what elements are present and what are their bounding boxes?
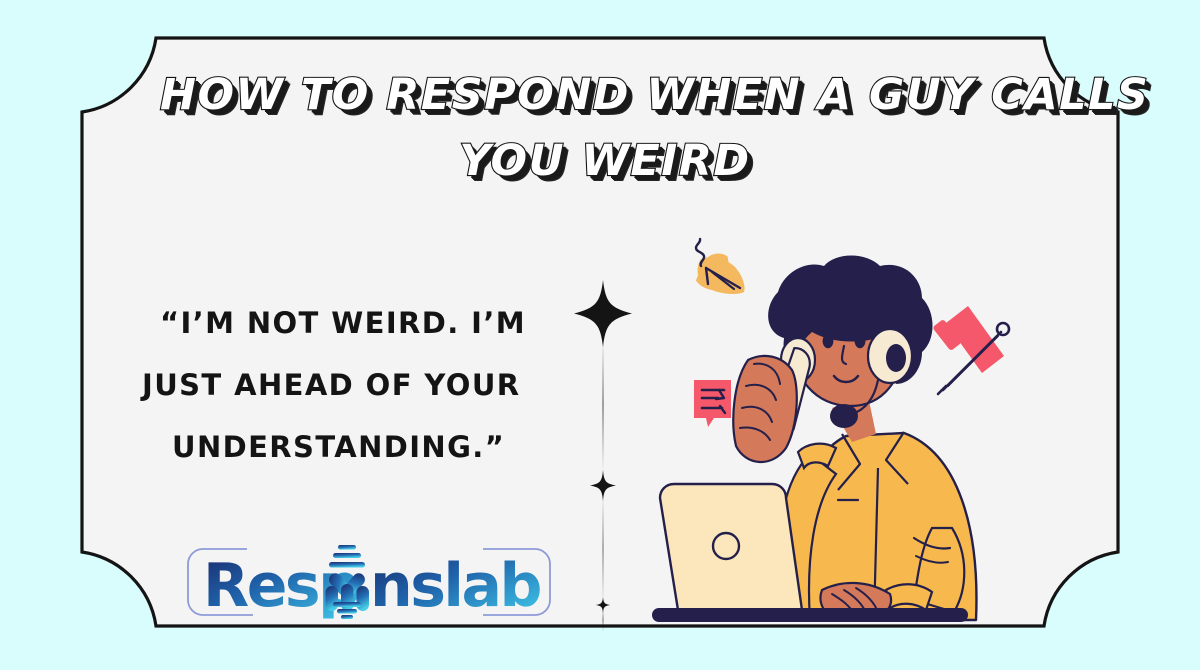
large-sparkle-icon: [574, 280, 632, 347]
quote-text: “I’M NOT WEIRD. I’M JUST AHEAD OF YOUR U…: [140, 292, 560, 478]
small-sparkle-icon: [596, 597, 610, 613]
right-eye: [855, 334, 866, 348]
desk-surface: [652, 608, 968, 622]
phone-in-hand: [733, 346, 812, 462]
laptop-icon: [660, 484, 802, 610]
sparkle-divider: [574, 272, 632, 632]
medium-sparkle-icon: [590, 470, 616, 501]
megaphone-icon: [695, 239, 745, 294]
marker-and-pen-icon: [932, 306, 1009, 394]
mic-tip: [830, 404, 858, 428]
poster-canvas: HOW TO RESPOND WHEN A GUY CALLS YOU WEIR…: [0, 0, 1200, 670]
quote-line-3: UNDERSTANDING.”: [140, 416, 560, 478]
customer-support-illustration: [646, 228, 1042, 628]
quote-line-1: “I’M NOT WEIRD. I’M: [140, 292, 560, 354]
quote-line-2: JUST AHEAD OF YOUR: [140, 354, 560, 416]
responslab-logo[interactable]: Resp nslab: [183, 544, 555, 620]
left-eye: [823, 334, 834, 348]
logo-wordmark-right: nslab: [370, 551, 540, 620]
chat-bubble-icon: [694, 380, 731, 427]
